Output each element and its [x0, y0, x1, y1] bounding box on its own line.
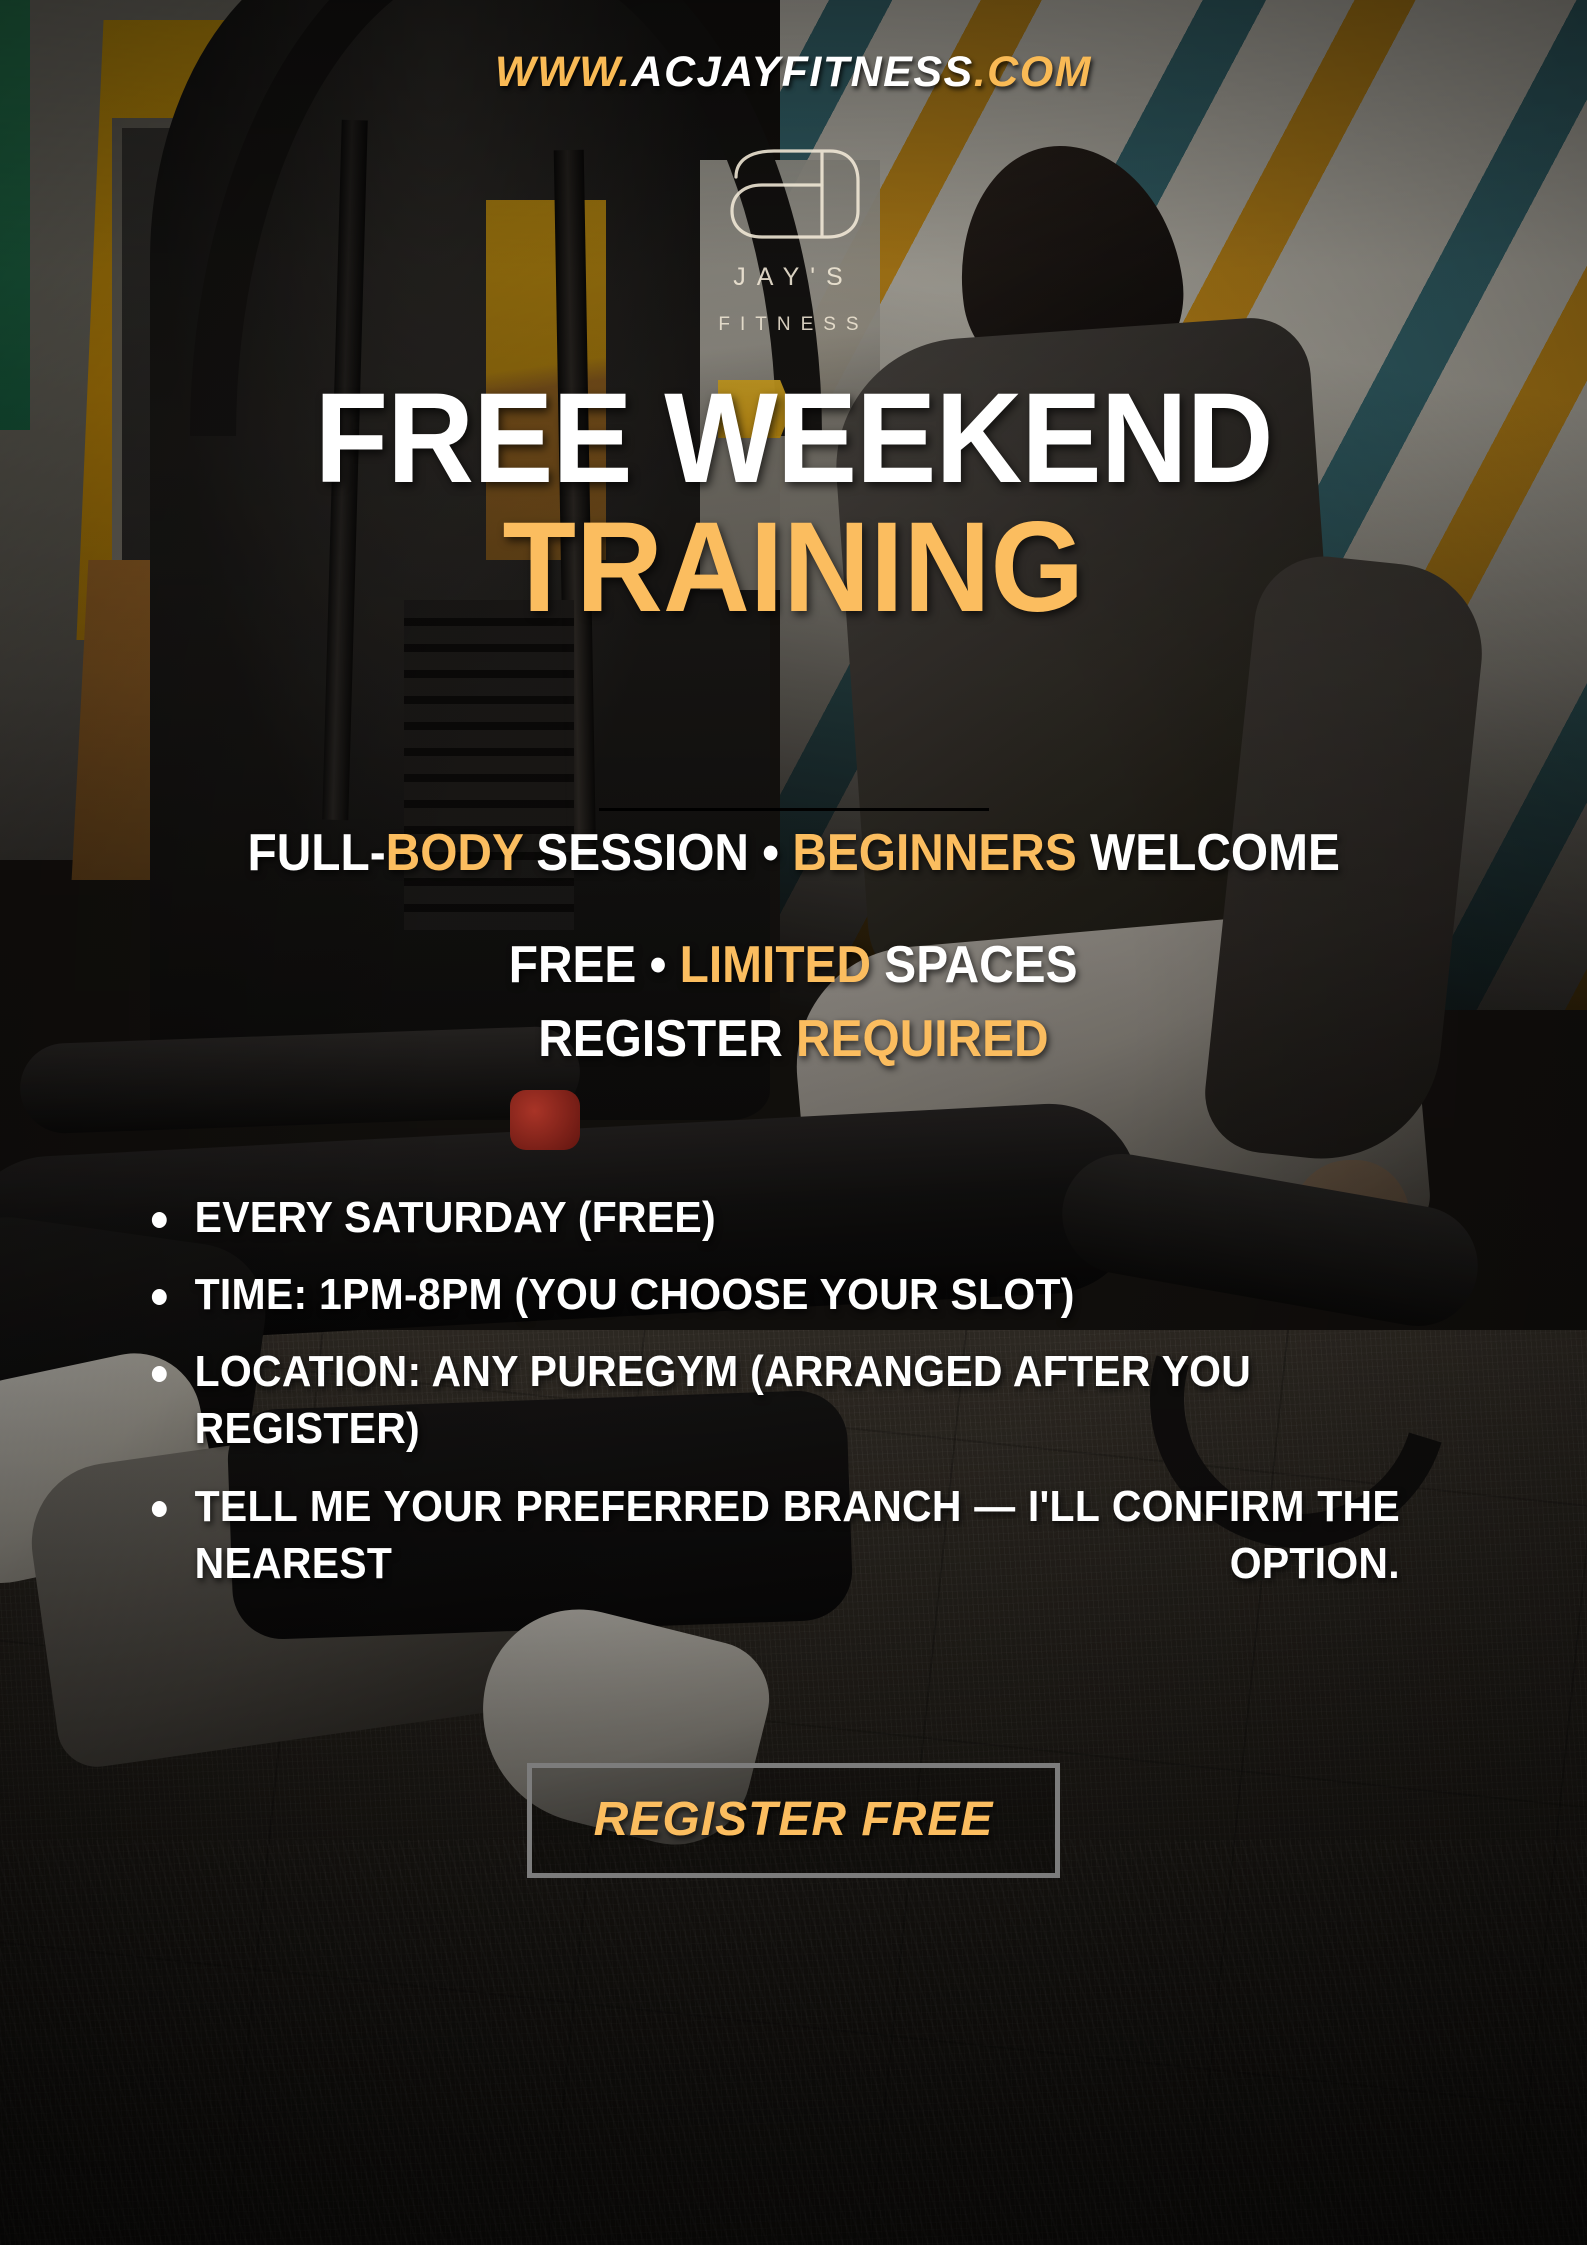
- register-label: REGISTER: [538, 1010, 796, 1068]
- brand-subtitle: FITNESS: [718, 314, 868, 336]
- price-spaces-label: SPACES: [871, 936, 1077, 994]
- poster-content: WWW.ACJAYFITNESS.COM JAY'S FITNESS FREE …: [0, 0, 1587, 2245]
- register-free-button[interactable]: REGISTER FREE: [527, 1763, 1061, 1878]
- brand-logo: JAY'S FITNESS: [718, 137, 868, 336]
- tagline-part-1: FULL-: [247, 824, 385, 882]
- price-line-2: REGISTER REQUIRED: [538, 1009, 1048, 1069]
- price-limited-label: LIMITED: [667, 936, 872, 994]
- cta-area: REGISTER FREE: [527, 1763, 1061, 1878]
- list-item: EVERY SATURDAY (FREE): [150, 1189, 1400, 1246]
- tagline-part-3: SESSION: [523, 824, 762, 882]
- site-url-brand: ACJAYFITNESS: [632, 48, 974, 96]
- tagline: FULL-BODY SESSION • BEGINNERS WELCOME: [247, 823, 1339, 883]
- required-label: REQUIRED: [796, 1010, 1049, 1068]
- divider-rule: [599, 808, 989, 811]
- price-free-label: FREE: [509, 936, 650, 994]
- site-url[interactable]: WWW.ACJAYFITNESS.COM: [495, 48, 1092, 97]
- tagline-part-2: BODY: [385, 824, 522, 882]
- details-list: EVERY SATURDAY (FREE) TIME: 1PM-8PM (YOU…: [94, 1189, 1494, 1669]
- site-url-suffix: .COM: [974, 48, 1092, 96]
- headline-line-2: TRAINING: [503, 507, 1085, 630]
- tagline-bullet: •: [762, 824, 779, 882]
- list-item: LOCATION: ANY PUREGYM (ARRANGED AFTER YO…: [150, 1343, 1400, 1457]
- list-item: TELL ME YOUR PREFERRED BRANCH — I'LL CON…: [150, 1478, 1400, 1650]
- headline-line-1: FREE WEEKEND: [314, 378, 1272, 501]
- price-line-1: FREE • LIMITED SPACES: [509, 935, 1078, 995]
- ac-monogram-icon: [718, 137, 868, 249]
- price-bullet: •: [650, 936, 667, 994]
- brand-name: JAY'S: [733, 263, 853, 292]
- tagline-part-4: BEGINNERS: [779, 824, 1077, 882]
- tagline-part-5: WELCOME: [1077, 824, 1340, 882]
- site-url-prefix: WWW.: [495, 48, 632, 96]
- list-item: TIME: 1PM-8PM (YOU CHOOSE YOUR SLOT): [150, 1266, 1400, 1323]
- poster-canvas: WWW.ACJAYFITNESS.COM JAY'S FITNESS FREE …: [0, 0, 1587, 2245]
